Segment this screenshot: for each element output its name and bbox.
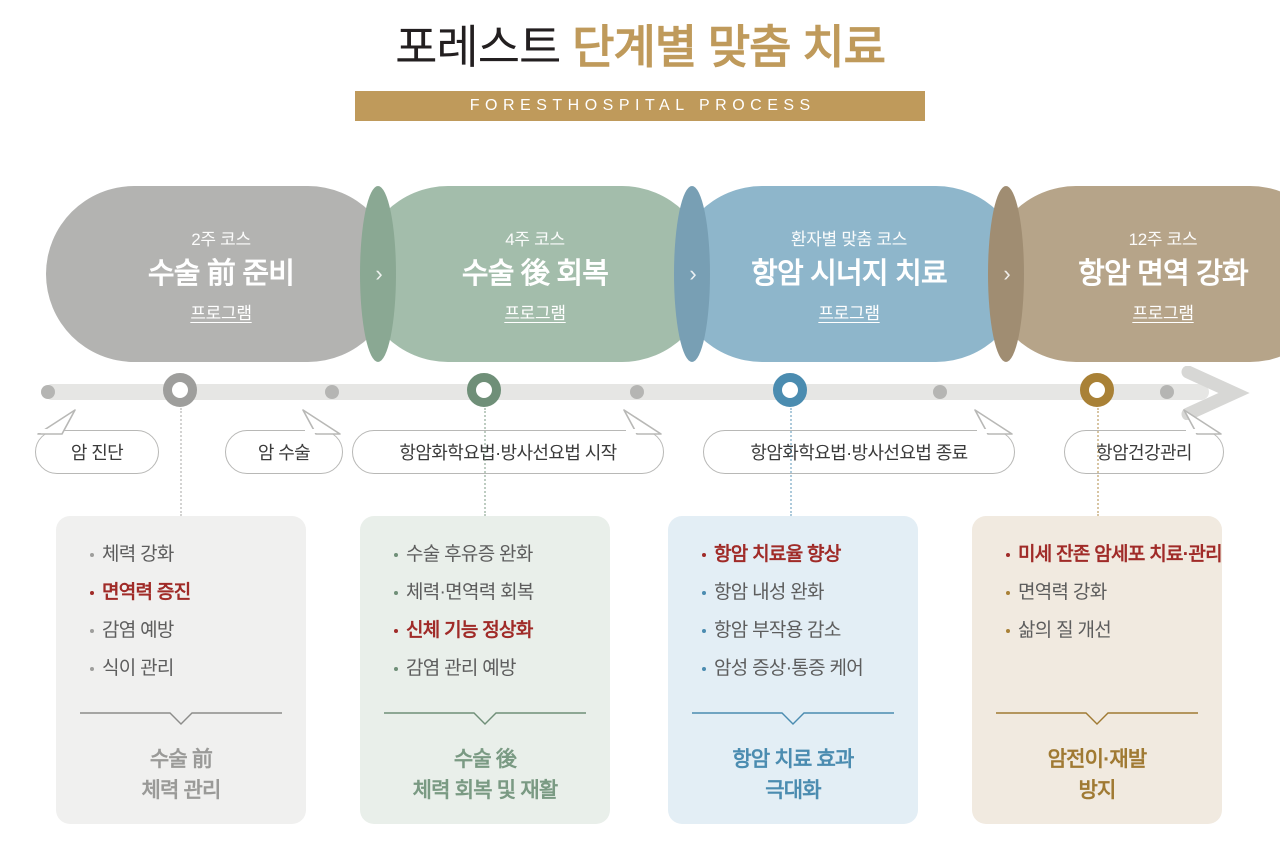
card-footer-line: 항암 치료 효과 — [668, 744, 918, 775]
card-bullet-item: 미세 잔존 암세포 치료·관리 — [1006, 542, 1222, 568]
card-bullet-label: 감염 예방 — [102, 618, 174, 644]
page-title-plain: 포레스트 — [395, 21, 572, 73]
card-divider — [692, 712, 894, 726]
stage-course-label: 12주 코스 — [1129, 225, 1198, 250]
card-bullet-label: 항암 치료율 향상 — [714, 542, 841, 568]
bullet-dot-icon — [90, 629, 94, 633]
card-footer-line: 암전이·재발 — [972, 744, 1222, 775]
card-footer-line: 극대화 — [668, 775, 918, 806]
card-bullet-item: 면역력 증진 — [90, 580, 306, 606]
card-bullet-label: 감염 관리 예방 — [406, 656, 516, 682]
card-bullet-item: 면역력 강화 — [1006, 580, 1222, 606]
card-footer: 항암 치료 효과극대화 — [668, 744, 918, 806]
card-divider — [80, 712, 282, 726]
bullet-dot-icon — [394, 553, 398, 557]
callout-tail-mask — [626, 429, 650, 433]
card-bullet-label: 삶의 질 개선 — [1018, 618, 1111, 644]
bullet-dot-icon — [1006, 629, 1010, 633]
callout-2[interactable]: 암 수술 — [225, 430, 343, 474]
bullet-dot-icon — [702, 553, 706, 557]
timeline-drop-line-4 — [1097, 408, 1099, 516]
bullet-dot-icon — [702, 629, 706, 633]
card-divider — [996, 712, 1198, 726]
stage-program-label: 프로그램 — [1132, 299, 1193, 324]
timeline-arrow-icon — [1180, 366, 1280, 425]
card-bullet-label: 체력·면역력 회복 — [406, 580, 534, 606]
callout-row: 암 진단암 수술항암화학요법·방사선요법 시작항암화학요법·방사선요법 종료항암… — [0, 430, 1280, 480]
card-bullet-label: 면역력 강화 — [1018, 580, 1106, 606]
card-bullet-item: 암성 증상·통증 케어 — [702, 656, 918, 682]
card-footer: 수술 前체력 관리 — [56, 744, 306, 806]
callout-label: 암 진단 — [71, 439, 123, 465]
timeline-dot-4 — [933, 385, 947, 399]
callout-tail-mask — [977, 429, 1001, 433]
card-bullet-item: 항암 부작용 감소 — [702, 618, 918, 644]
card-bullet-item: 체력·면역력 회복 — [394, 580, 610, 606]
bullet-dot-icon — [394, 667, 398, 671]
card-bullet-item: 체력 강화 — [90, 542, 306, 568]
stage-course-label: 2주 코스 — [191, 225, 251, 250]
timeline-drop-line-3 — [790, 408, 792, 516]
card-bullet-label: 미세 잔존 암세포 치료·관리 — [1018, 542, 1222, 568]
callout-tail-mask — [35, 429, 59, 433]
stage-pill-3[interactable]: 환자별 맞춤 코스항암 시너지 치료프로그램 — [674, 186, 1024, 362]
callout-label: 항암화학요법·방사선요법 시작 — [399, 439, 616, 465]
stage-course-label: 4주 코스 — [505, 225, 565, 250]
card-bullet-item: 항암 치료율 향상 — [702, 542, 918, 568]
card-divider — [384, 712, 586, 726]
stage-name-label: 수술 前 준비 — [148, 256, 294, 292]
stage-name-label: 항암 시너지 치료 — [751, 256, 947, 292]
callout-label: 항암건강관리 — [1096, 439, 1192, 465]
callout-3[interactable]: 항암화학요법·방사선요법 시작 — [352, 430, 664, 474]
content-card-2: 수술 후유증 완화체력·면역력 회복신체 기능 정상화감염 관리 예방수술 後체… — [360, 516, 610, 824]
card-bullet-item: 수술 후유증 완화 — [394, 542, 610, 568]
card-bullet-item: 식이 관리 — [90, 656, 306, 682]
callout-1[interactable]: 암 진단 — [35, 430, 159, 474]
card-bullet-label: 신체 기능 정상화 — [406, 618, 533, 644]
bullet-dot-icon — [394, 629, 398, 633]
bullet-dot-icon — [702, 591, 706, 595]
card-footer: 암전이·재발방지 — [972, 744, 1222, 806]
subtitle-text: FORESTHOSPITAL PROCESS — [355, 91, 925, 121]
timeline-milestone-1[interactable] — [163, 373, 197, 407]
timeline-dot-1 — [41, 385, 55, 399]
content-card-1: 체력 강화면역력 증진감염 예방식이 관리수술 前체력 관리 — [56, 516, 306, 824]
card-footer-line: 수술 前 — [56, 744, 306, 775]
card-bullet-list: 항암 치료율 향상항암 내성 완화항암 부작용 감소암성 증상·통증 케어 — [668, 542, 918, 694]
bullet-dot-icon — [1006, 591, 1010, 595]
stage-pill-1[interactable]: 2주 코스수술 前 준비프로그램 — [46, 186, 396, 362]
content-card-4: 미세 잔존 암세포 치료·관리면역력 강화삶의 질 개선암전이·재발방지 — [972, 516, 1222, 824]
timeline-drop-line-2 — [484, 408, 486, 516]
card-bullet-list: 체력 강화면역력 증진감염 예방식이 관리 — [56, 542, 306, 694]
card-bullet-item: 감염 예방 — [90, 618, 306, 644]
stage-name-label: 항암 면역 강화 — [1078, 256, 1248, 292]
timeline — [0, 376, 1280, 410]
timeline-bar — [44, 384, 1209, 400]
timeline-dot-3 — [630, 385, 644, 399]
stage-program-label: 프로그램 — [818, 299, 879, 324]
timeline-dot-5 — [1160, 385, 1174, 399]
card-footer: 수술 後체력 회복 및 재활 — [360, 744, 610, 806]
timeline-milestone-2[interactable] — [467, 373, 501, 407]
callout-tail-mask — [1186, 429, 1210, 433]
card-bullet-item: 감염 관리 예방 — [394, 656, 610, 682]
timeline-milestone-3[interactable] — [773, 373, 807, 407]
card-bullet-label: 항암 부작용 감소 — [714, 618, 841, 644]
card-bullet-label: 암성 증상·통증 케어 — [714, 656, 863, 682]
stage-pill-row: 2주 코스수술 前 준비프로그램4주 코스수술 後 회복프로그램환자별 맞춤 코… — [0, 186, 1280, 362]
bullet-dot-icon — [90, 553, 94, 557]
card-row: 체력 강화면역력 증진감염 예방식이 관리수술 前체력 관리수술 후유증 완화체… — [0, 516, 1280, 824]
bullet-dot-icon — [394, 591, 398, 595]
callout-label: 암 수술 — [258, 439, 310, 465]
card-bullet-list: 미세 잔존 암세포 치료·관리면역력 강화삶의 질 개선 — [972, 542, 1222, 656]
card-bullet-list: 수술 후유증 완화체력·면역력 회복신체 기능 정상화감염 관리 예방 — [360, 542, 610, 694]
stage-program-label: 프로그램 — [190, 299, 251, 324]
card-bullet-label: 항암 내성 완화 — [714, 580, 824, 606]
stage-pill-2[interactable]: 4주 코스수술 後 회복프로그램 — [360, 186, 710, 362]
header: 포레스트 단계별 맞춤 치료 FORESTHOSPITAL PROCESS — [0, 0, 1280, 140]
card-bullet-item: 항암 내성 완화 — [702, 580, 918, 606]
callout-tail-mask — [305, 429, 329, 433]
card-bullet-label: 체력 강화 — [102, 542, 174, 568]
bullet-dot-icon — [90, 591, 94, 595]
stage-course-label: 환자별 맞춤 코스 — [791, 225, 907, 250]
card-footer-line: 수술 後 — [360, 744, 610, 775]
card-bullet-label: 면역력 증진 — [102, 580, 190, 606]
timeline-dot-2 — [325, 385, 339, 399]
stage-name-label: 수술 後 회복 — [462, 256, 608, 292]
callout-5[interactable]: 항암건강관리 — [1064, 430, 1224, 474]
card-bullet-label: 수술 후유증 완화 — [406, 542, 533, 568]
page-title: 포레스트 단계별 맞춤 치료 — [0, 18, 1280, 76]
bullet-dot-icon — [1006, 553, 1010, 557]
callout-4[interactable]: 항암화학요법·방사선요법 종료 — [703, 430, 1015, 474]
card-footer-line: 체력 회복 및 재활 — [360, 775, 610, 806]
stage-program-label: 프로그램 — [504, 299, 565, 324]
card-bullet-label: 식이 관리 — [102, 656, 174, 682]
card-bullet-item: 삶의 질 개선 — [1006, 618, 1222, 644]
card-footer-line: 방지 — [972, 775, 1222, 806]
bullet-dot-icon — [702, 667, 706, 671]
timeline-milestone-4[interactable] — [1080, 373, 1114, 407]
page-title-accent: 단계별 맞춤 치료 — [572, 21, 885, 73]
bullet-dot-icon — [90, 667, 94, 671]
content-card-3: 항암 치료율 향상항암 내성 완화항암 부작용 감소암성 증상·통증 케어항암 … — [668, 516, 918, 824]
stage-pill-4[interactable]: 12주 코스항암 면역 강화프로그램 — [988, 186, 1280, 362]
card-bullet-item: 신체 기능 정상화 — [394, 618, 610, 644]
callout-label: 항암화학요법·방사선요법 종료 — [750, 439, 967, 465]
timeline-drop-line-1 — [180, 408, 182, 516]
card-footer-line: 체력 관리 — [56, 775, 306, 806]
